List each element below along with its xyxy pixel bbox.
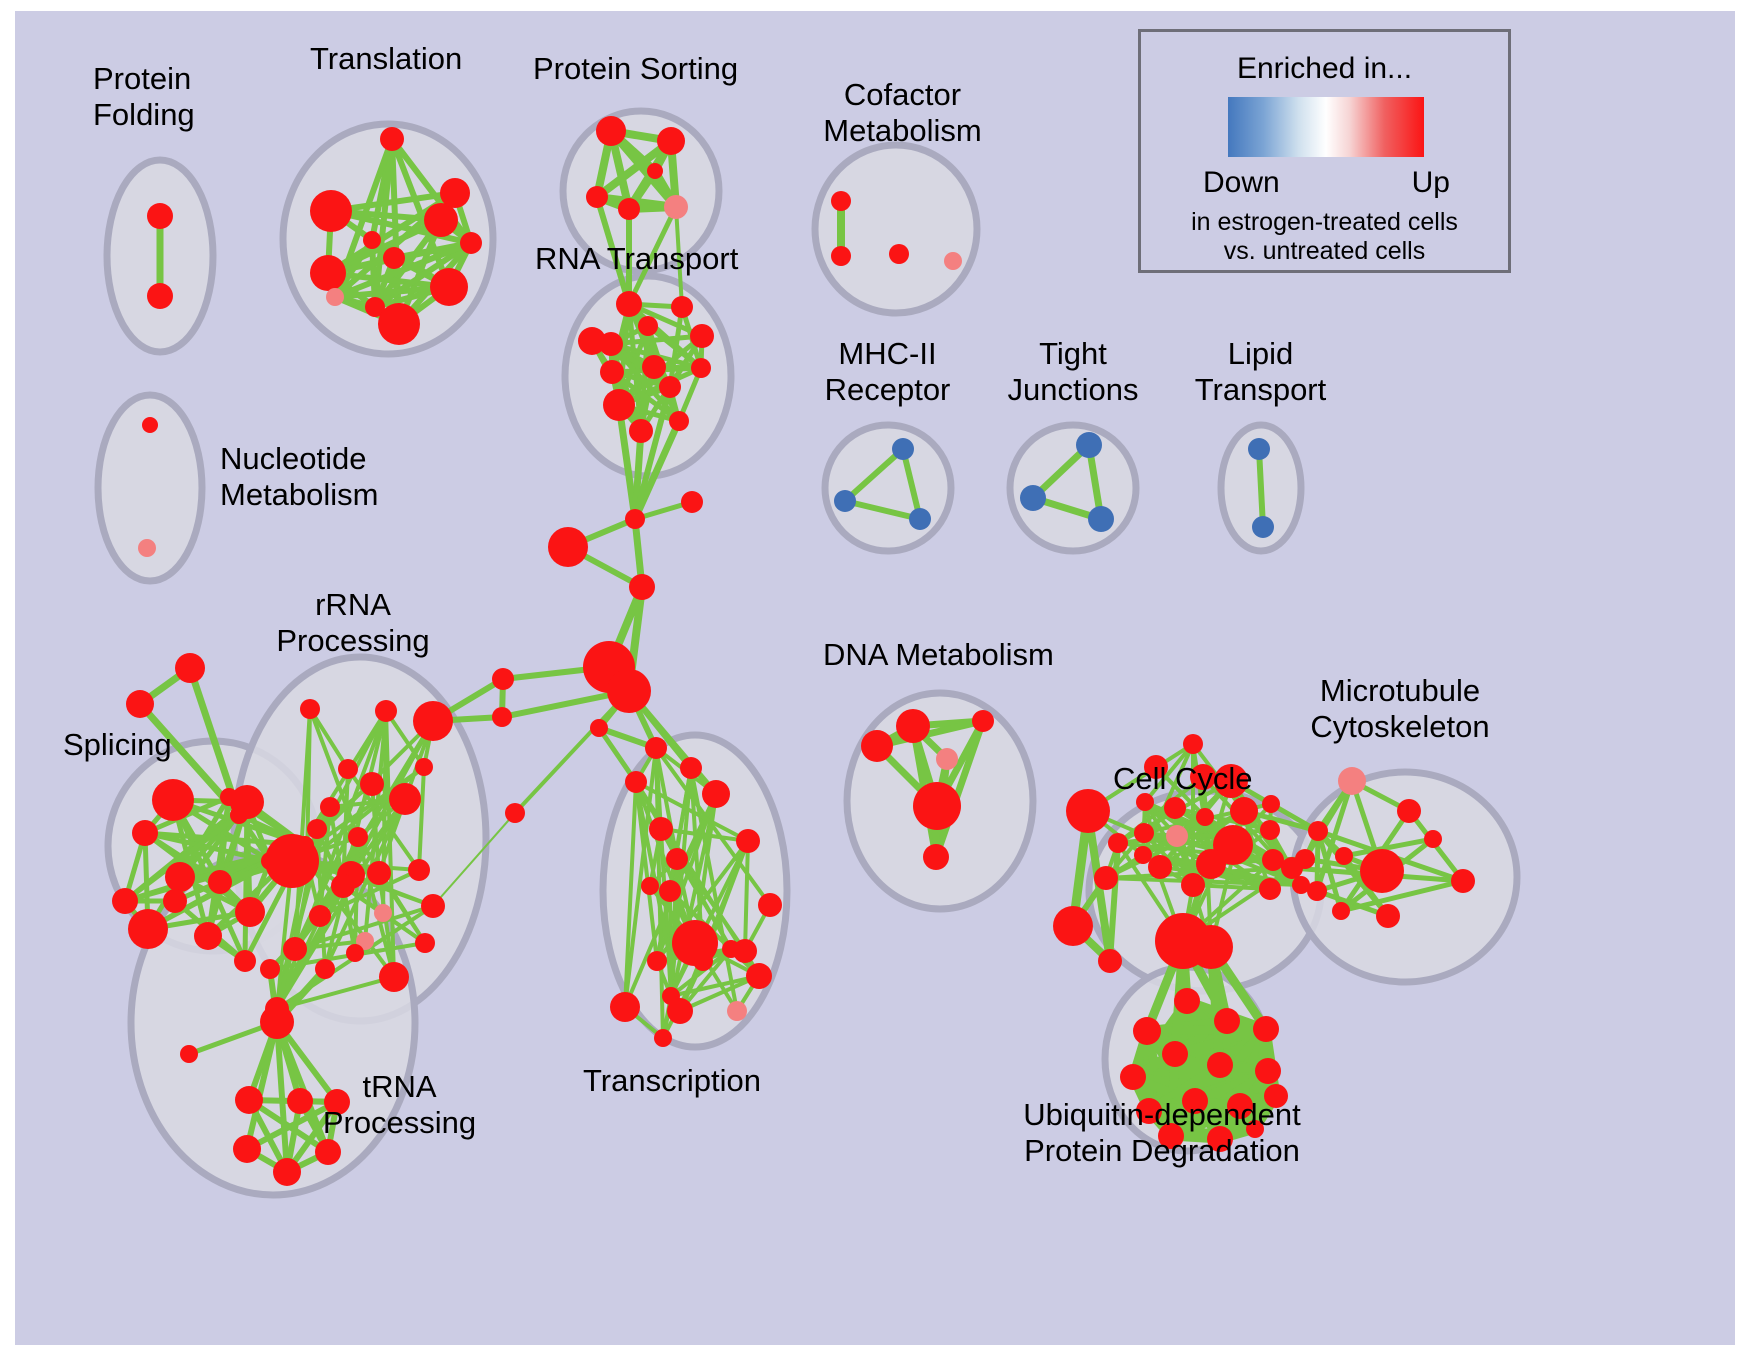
network-node[interactable] (654, 1029, 672, 1047)
network-node[interactable] (923, 844, 949, 870)
network-node[interactable] (645, 737, 667, 759)
network-node[interactable] (360, 772, 384, 796)
cluster-label-tight-junctions: TightJunctions (997, 336, 1149, 408)
network-node[interactable] (727, 1001, 747, 1021)
network-node[interactable] (310, 255, 346, 291)
network-node[interactable] (208, 870, 232, 894)
network-node[interactable] (415, 758, 433, 776)
network-node[interactable] (647, 951, 667, 971)
network-node[interactable] (1076, 432, 1102, 458)
network-node[interactable] (112, 888, 138, 914)
network-node[interactable] (889, 244, 909, 264)
network-node[interactable] (430, 268, 468, 306)
cluster-label-trna-processing: tRNAProcessing (317, 1069, 482, 1141)
network-node[interactable] (348, 827, 368, 847)
network-node[interactable] (287, 1088, 313, 1114)
network-node[interactable] (1262, 849, 1284, 871)
network-node[interactable] (230, 806, 248, 824)
legend-box: Enriched in... Down Up in estrogen-treat… (1138, 29, 1511, 273)
cluster-label-lipid-transport: LipidTransport (1183, 336, 1338, 408)
network-node[interactable] (672, 920, 718, 966)
network-node[interactable] (610, 992, 640, 1022)
cluster-label-microtubule-cytoskeleton: MicrotubuleCytoskeleton (1310, 673, 1490, 745)
network-node[interactable] (1376, 904, 1400, 928)
legend-low-label: Down (1203, 166, 1280, 200)
network-node[interactable] (1338, 767, 1366, 795)
network-node[interactable] (1196, 808, 1214, 826)
network-node[interactable] (165, 862, 195, 892)
cluster-label-cell-cycle: Cell Cycle (1113, 761, 1253, 797)
legend-high-label: Up (1412, 166, 1450, 200)
network-node[interactable] (629, 574, 655, 600)
network-node[interactable] (1133, 1017, 1161, 1045)
cluster-label-transcription: Transcription (583, 1063, 761, 1099)
network-node[interactable] (235, 897, 265, 927)
network-node[interactable] (1262, 795, 1280, 813)
cluster-label-dna-metabolism: DNA Metabolism (823, 637, 1054, 673)
network-node[interactable] (1020, 485, 1046, 511)
network-node[interactable] (691, 358, 711, 378)
network-node[interactable] (338, 759, 358, 779)
network-node[interactable] (233, 1135, 261, 1163)
network-node[interactable] (736, 829, 760, 853)
network-node[interactable] (1230, 797, 1258, 825)
network-node[interactable] (1252, 516, 1274, 538)
cluster-label-rrna-processing: rRNAProcessing (273, 587, 433, 659)
network-node[interactable] (1248, 438, 1270, 460)
network-node[interactable] (647, 163, 663, 179)
network-node[interactable] (831, 246, 851, 266)
network-node[interactable] (1148, 855, 1172, 879)
network-node[interactable] (260, 959, 280, 979)
network-node[interactable] (260, 1005, 294, 1039)
network-node[interactable] (1098, 949, 1122, 973)
network-node[interactable] (1183, 734, 1203, 754)
network-node[interactable] (147, 203, 173, 229)
network-node[interactable] (1259, 878, 1281, 900)
network-node[interactable] (909, 508, 931, 530)
legend-title: Enriched in... (1141, 52, 1508, 86)
network-node[interactable] (681, 491, 703, 513)
network-node[interactable] (1451, 869, 1475, 893)
cluster-label-nucleotide-metabolism: NucleotideMetabolism (220, 441, 379, 513)
network-node[interactable] (421, 894, 445, 918)
network-node[interactable] (163, 889, 187, 913)
network-node[interactable] (367, 861, 391, 885)
network-node[interactable] (1134, 846, 1152, 864)
network-node[interactable] (629, 419, 653, 443)
cluster-label-splicing: Splicing (63, 727, 172, 763)
network-node[interactable] (126, 690, 154, 718)
network-node[interactable] (138, 539, 156, 557)
network-node[interactable] (194, 922, 222, 950)
legend-colorbar (1228, 97, 1424, 157)
network-node[interactable] (408, 859, 430, 881)
network-node[interactable] (625, 509, 645, 529)
network-node[interactable] (625, 771, 647, 793)
network-node[interactable] (147, 283, 173, 309)
network-node[interactable] (596, 116, 626, 146)
network-node[interactable] (424, 203, 458, 237)
network-node[interactable] (667, 998, 693, 1024)
network-node[interactable] (607, 669, 651, 713)
network-node[interactable] (638, 316, 658, 336)
network-node[interactable] (492, 668, 514, 690)
legend-subtitle-line1: in estrogen-treated cells (1191, 208, 1458, 236)
network-node[interactable] (1066, 789, 1110, 833)
network-node[interactable] (669, 411, 689, 431)
network-node[interactable] (220, 788, 238, 806)
network-node[interactable] (1120, 1064, 1146, 1090)
network-node[interactable] (273, 1158, 301, 1186)
network-node[interactable] (896, 709, 930, 743)
network-node[interactable] (671, 296, 693, 318)
network-node[interactable] (1332, 902, 1350, 920)
cluster-label-cofactor-metabolism: CofactorMetabolism (815, 77, 990, 149)
network-node[interactable] (492, 707, 512, 727)
network-node[interactable] (616, 291, 642, 317)
network-node[interactable] (666, 848, 688, 870)
network-node[interactable] (1255, 1058, 1281, 1084)
network-node[interactable] (936, 748, 958, 770)
network-node[interactable] (265, 834, 319, 888)
network-node[interactable] (758, 893, 782, 917)
network-node[interactable] (641, 877, 659, 895)
network-node[interactable] (379, 962, 409, 992)
network-node[interactable] (664, 195, 688, 219)
network-node[interactable] (320, 797, 340, 817)
network-node[interactable] (1360, 849, 1404, 893)
network-node[interactable] (378, 303, 420, 345)
network-node[interactable] (1088, 506, 1114, 532)
network-node[interactable] (1253, 1016, 1279, 1042)
network-node[interactable] (1174, 988, 1200, 1014)
network-node[interactable] (680, 757, 702, 779)
network-node[interactable] (944, 252, 962, 270)
network-node[interactable] (505, 803, 525, 823)
network-node[interactable] (548, 527, 588, 567)
network-node[interactable] (235, 1086, 263, 1114)
network-node[interactable] (657, 127, 685, 155)
network-node[interactable] (460, 232, 482, 254)
network-node[interactable] (1207, 1052, 1233, 1078)
network-node[interactable] (128, 909, 168, 949)
network-node[interactable] (175, 653, 205, 683)
network-node[interactable] (440, 178, 470, 208)
network-node[interactable] (1397, 799, 1421, 823)
network-node[interactable] (1308, 821, 1328, 841)
network-node[interactable] (315, 1139, 341, 1165)
network-node[interactable] (380, 127, 404, 151)
network-edge (1259, 449, 1263, 527)
network-node[interactable] (1189, 925, 1233, 969)
network-node[interactable] (972, 710, 994, 732)
network-node[interactable] (142, 417, 158, 433)
network-node[interactable] (415, 933, 435, 953)
network-node[interactable] (722, 940, 740, 958)
network-node[interactable] (326, 288, 344, 306)
cluster-label-mhc-ii-receptor: MHC-IIReceptor (810, 336, 965, 408)
network-node[interactable] (1094, 866, 1118, 890)
network-node[interactable] (892, 438, 914, 460)
network-node[interactable] (363, 231, 381, 249)
network-node[interactable] (1307, 881, 1327, 901)
network-node[interactable] (180, 1045, 198, 1063)
network-node[interactable] (1108, 833, 1128, 853)
network-node[interactable] (618, 198, 640, 220)
network-node[interactable] (1196, 849, 1226, 879)
cluster-label-rna-transport: RNA Transport (535, 241, 738, 277)
network-node[interactable] (152, 779, 194, 821)
network-node[interactable] (649, 817, 673, 841)
network-node[interactable] (913, 782, 961, 830)
network-node[interactable] (346, 944, 364, 962)
network-node[interactable] (310, 190, 352, 232)
network-node[interactable] (1214, 1008, 1240, 1034)
network-node[interactable] (375, 700, 397, 722)
network-node[interactable] (1053, 906, 1093, 946)
network-node[interactable] (586, 186, 608, 208)
network-node[interactable] (283, 937, 307, 961)
network-node[interactable] (1260, 820, 1280, 840)
network-node[interactable] (413, 701, 453, 741)
network-canvas: ProteinFolding Translation NucleotideMet… (15, 11, 1735, 1345)
network-node[interactable] (1335, 847, 1353, 865)
network-node[interactable] (307, 819, 327, 839)
network-node[interactable] (599, 332, 623, 356)
figure-root: ProteinFolding Translation NucleotideMet… (0, 0, 1750, 1360)
network-node[interactable] (659, 376, 681, 398)
network-node[interactable] (309, 905, 331, 927)
network-node[interactable] (1181, 873, 1205, 897)
network-node[interactable] (1134, 823, 1154, 843)
network-node[interactable] (300, 699, 320, 719)
network-node[interactable] (374, 904, 392, 922)
network-edge (372, 240, 375, 307)
network-node[interactable] (132, 820, 158, 846)
network-node[interactable] (234, 950, 256, 972)
cluster-label-protein-folding: ProteinFolding (93, 61, 195, 133)
network-node[interactable] (831, 191, 851, 211)
network-node[interactable] (315, 959, 335, 979)
network-node[interactable] (1164, 797, 1186, 819)
network-node[interactable] (642, 355, 666, 379)
cluster-hull (825, 425, 951, 551)
network-node[interactable] (1166, 825, 1188, 847)
network-node[interactable] (383, 247, 405, 269)
network-node[interactable] (690, 324, 714, 348)
network-node[interactable] (1162, 1041, 1188, 1067)
legend-subtitle-line2: vs. untreated cells (1224, 237, 1426, 265)
cluster-label-translation: Translation (310, 41, 462, 77)
network-node[interactable] (603, 389, 635, 421)
cluster-label-protein-sorting: Protein Sorting (533, 51, 738, 87)
network-node[interactable] (331, 874, 355, 898)
network-node[interactable] (746, 963, 772, 989)
network-node[interactable] (1424, 830, 1442, 848)
network-node[interactable] (389, 783, 421, 815)
network-node[interactable] (861, 730, 893, 762)
network-node[interactable] (1295, 849, 1315, 869)
network-node[interactable] (702, 780, 730, 808)
network-node[interactable] (659, 880, 681, 902)
network-node[interactable] (834, 490, 856, 512)
network-node[interactable] (590, 719, 608, 737)
cluster-label-ubiquitin-protein-degradation: Ubiquitin-dependentProtein Degradation (997, 1097, 1327, 1169)
legend-subtitle: in estrogen-treated cellsvs. untreated c… (1141, 208, 1508, 266)
network-node[interactable] (600, 360, 624, 384)
